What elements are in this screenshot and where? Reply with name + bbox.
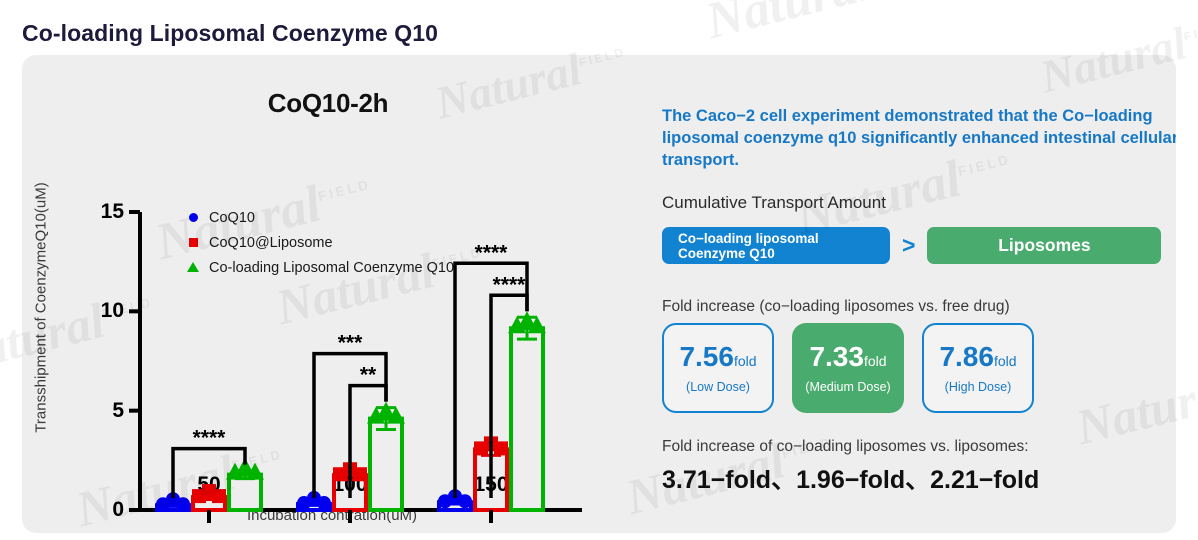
significance-annotation: **** — [493, 273, 527, 296]
legend-item: CoQ10 — [185, 207, 454, 229]
triangle-icon — [185, 259, 201, 277]
chart-svg: ***************** — [22, 55, 634, 533]
legend-item: Co-loading Liposomal Coenzyme Q10 — [185, 257, 454, 279]
fold-unit: fold — [994, 353, 1017, 369]
screenshot-root: NaturalFIELD NaturalFIELD NaturalFIELD N… — [0, 0, 1198, 540]
legend-item: CoQ10@Liposome — [185, 232, 454, 254]
pill-co-loading-liposomal: Co−loading liposomal Coenzyme Q10 — [662, 227, 890, 264]
fold-increase-box: 7.86fold(High Dose) — [922, 323, 1034, 413]
watermark: NaturalFIELD — [700, 0, 929, 51]
fold-increase-box: 7.33fold(Medium Dose) — [792, 323, 904, 413]
legend-label: CoQ10 — [209, 210, 255, 226]
comparison-row: Co−loading liposomal Coenzyme Q10 > Lipo… — [662, 227, 1161, 264]
pill-line-1: Co−loading liposomal — [678, 231, 819, 246]
fold-dose-label: (Medium Dose) — [805, 380, 890, 394]
significance-annotation: **** — [475, 241, 509, 264]
fold-dose-label: (Low Dose) — [686, 380, 750, 394]
fold-vs-liposomes-label: Fold increase of co−loading liposomes vs… — [662, 438, 1029, 456]
fold-value: 7.56 — [679, 343, 734, 371]
pill-line-2: Coenzyme Q10 — [678, 246, 819, 261]
fold-unit: fold — [864, 353, 887, 369]
fold-increase-boxes: 7.56fold(Low Dose)7.33fold(Medium Dose)7… — [662, 323, 1034, 413]
cumulative-transport-heading: Cumulative Transport Amount — [662, 193, 886, 213]
bar-chart-plot: Transshipment of CoenzymeQ10(uM) Incubat… — [22, 55, 634, 533]
fold-vs-liposomes-values: 3.71−fold、1.96−fold、2.21−fold — [662, 460, 1039, 496]
fold-value: 7.86 — [939, 343, 994, 371]
page-title: Co-loading Liposomal Coenzyme Q10 — [22, 20, 438, 47]
chart-legend: CoQ10CoQ10@LiposomeCo-loading Liposomal … — [185, 207, 454, 282]
greater-than-icon: > — [902, 232, 915, 259]
significance-annotation: ** — [360, 364, 377, 387]
circle-icon — [185, 209, 201, 227]
fold-unit: fold — [734, 353, 757, 369]
square-icon — [185, 234, 201, 252]
pill-liposomes: Liposomes — [927, 227, 1161, 264]
content-card: CoQ10-2h Transshipment of CoenzymeQ10(uM… — [22, 55, 1176, 533]
fold-increase-box: 7.56fold(Low Dose) — [662, 323, 774, 413]
right-info-panel: The Caco−2 cell experiment demonstrated … — [642, 55, 1176, 533]
significance-annotation: *** — [338, 332, 363, 355]
significance-annotation: **** — [193, 427, 227, 450]
fold-increase-heading: Fold increase (co−loading liposomes vs. … — [662, 298, 1010, 316]
legend-label: CoQ10@Liposome — [209, 235, 333, 251]
fold-value: 7.33 — [809, 343, 864, 371]
fold-dose-label: (High Dose) — [945, 380, 1012, 394]
chart-panel: CoQ10-2h Transshipment of CoenzymeQ10(uM… — [22, 55, 634, 533]
summary-text: The Caco−2 cell experiment demonstrated … — [662, 105, 1176, 171]
legend-label: Co-loading Liposomal Coenzyme Q10 — [209, 260, 454, 276]
